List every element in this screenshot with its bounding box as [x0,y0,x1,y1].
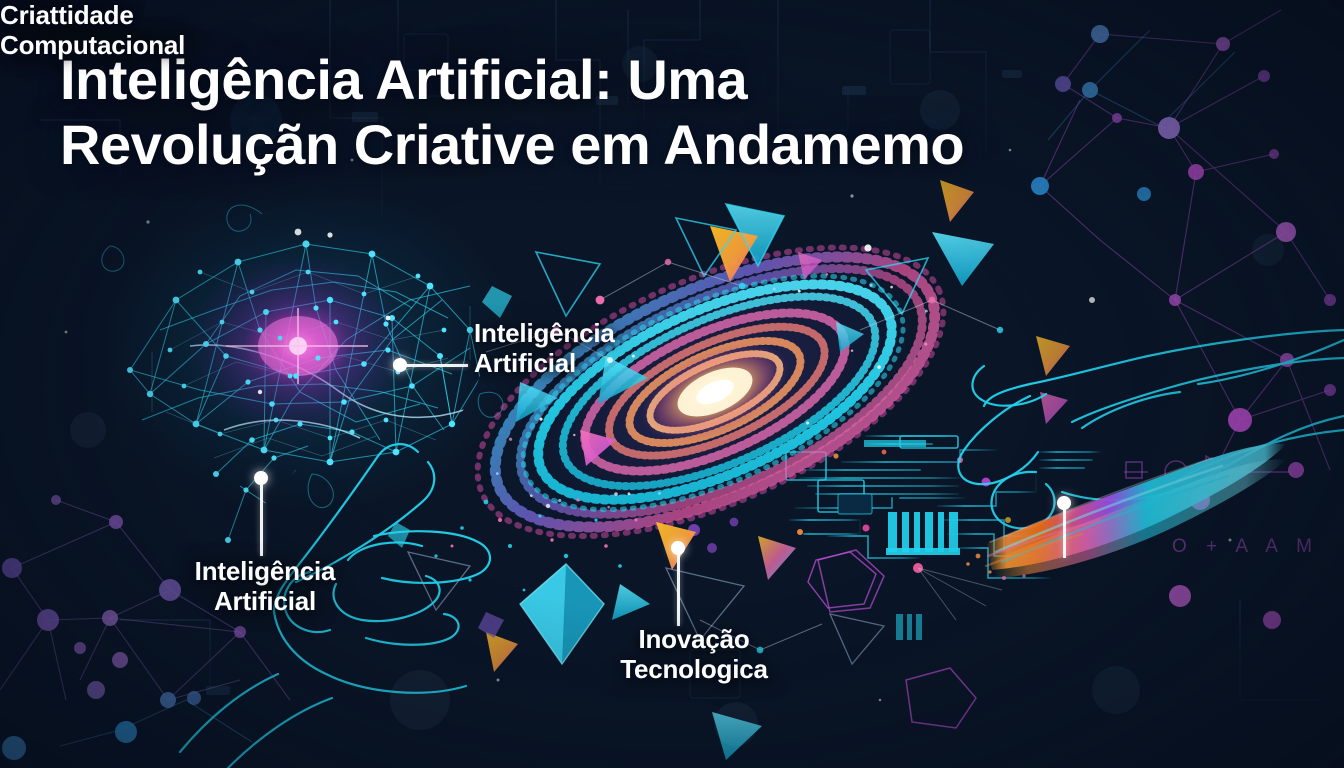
callout-dot-criatividade [1057,496,1071,510]
callout-label-ai-brain: Inteligência Artificial [474,318,615,378]
poster-canvas: O + A A M [0,0,1344,768]
callout-label-inovacao: Inovação Tecnologica [600,624,788,684]
callout-dot-ai-hand [254,471,268,485]
callout-label-ai-hand: Inteligência Artificial [176,556,354,616]
page-title: Inteligência Artificial: Uma Revoluçãn C… [60,48,1200,178]
callout-dot-ai-brain [393,358,407,372]
callout-dot-inovacao [671,541,685,555]
callout-label-criatividade: Criattidade Computacional [0,0,185,60]
